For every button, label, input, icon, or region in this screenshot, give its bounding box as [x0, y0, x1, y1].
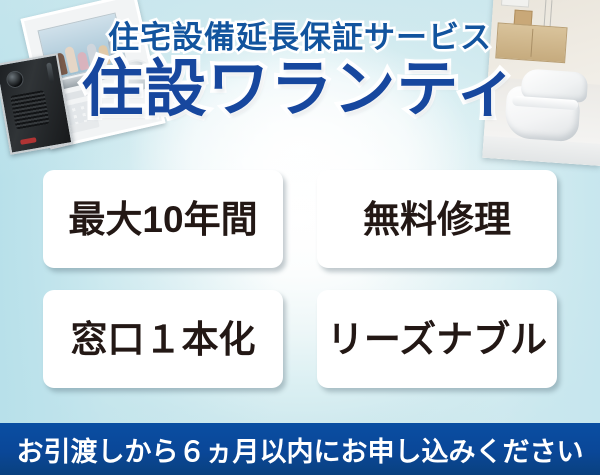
headline-block: 住宅設備延長保証サービス 住設ワランティ: [0, 10, 600, 122]
feature-card-label: リーズナブル: [327, 321, 547, 358]
feature-card-label: 最大10年間: [68, 201, 257, 238]
door-station-call-button: [20, 137, 37, 145]
feature-card-reasonable[interactable]: リーズナブル: [317, 290, 557, 388]
footer-notice-text: お引渡しから６ヵ月以内にお申し込みください: [17, 430, 584, 469]
feature-card-free-repair[interactable]: 無料修理: [317, 170, 557, 268]
banner-title: 住設ワランティ: [0, 57, 600, 122]
banner-subtitle: 住宅設備延長保証サービス: [0, 22, 600, 53]
feature-card-max-years[interactable]: 最大10年間: [43, 170, 283, 268]
toilet-room-vent: [501, 0, 530, 8]
feature-card-single-contact[interactable]: 窓口１本化: [43, 290, 283, 388]
promo-banner: 住宅設備延長保証サービス 住設ワランティ 最大10年間 無料修理 窓口１本化 リ…: [0, 0, 600, 475]
footer-notice-bar: お引渡しから６ヵ月以内にお申し込みください: [0, 423, 600, 475]
feature-card-label: 無料修理: [363, 201, 511, 238]
feature-card-label: 窓口１本化: [71, 321, 256, 358]
feature-card-grid: 最大10年間 無料修理 窓口１本化 リーズナブル: [43, 170, 557, 388]
